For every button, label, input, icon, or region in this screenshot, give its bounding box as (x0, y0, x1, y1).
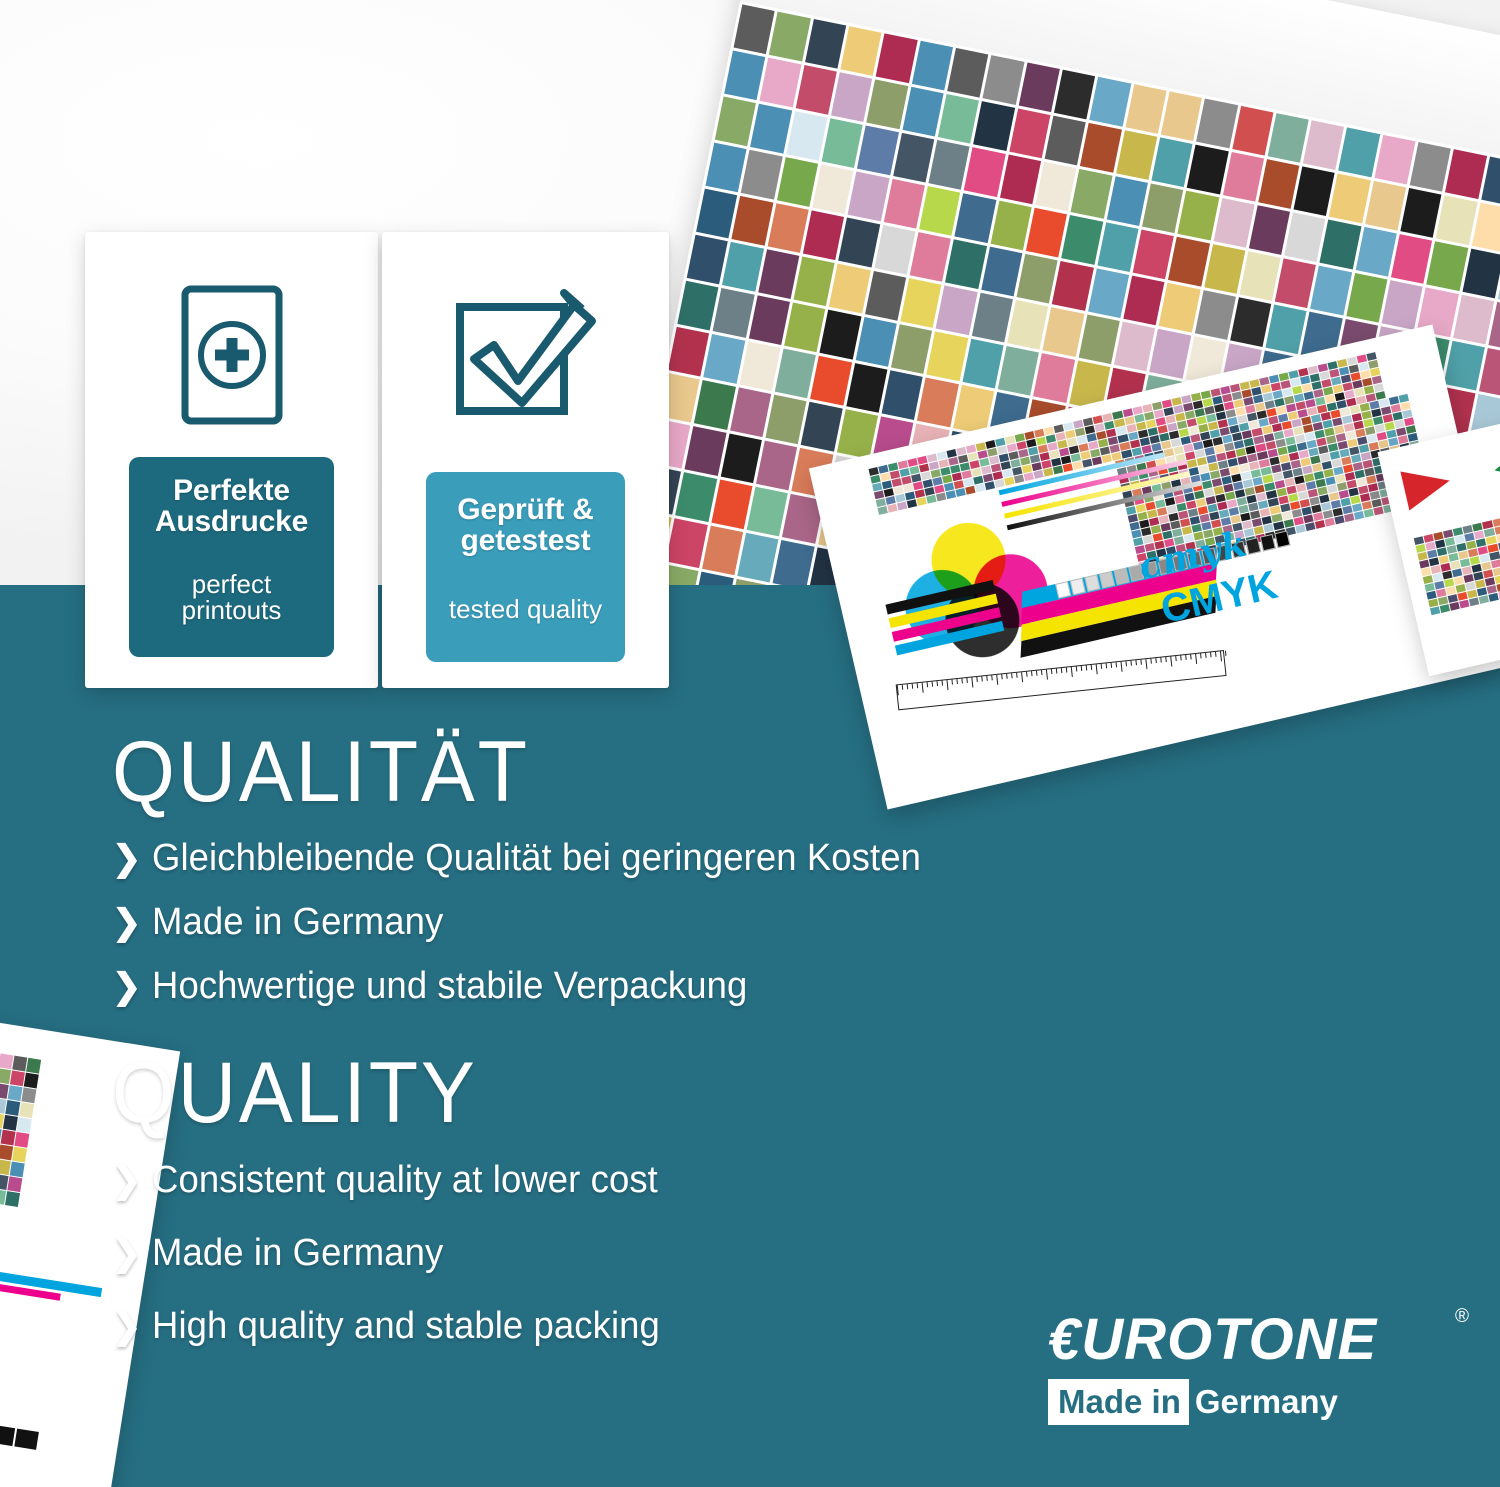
heading-english: QUALITY (112, 1051, 1146, 1135)
checkbox-pencil-icon (382, 280, 669, 430)
registered-trademark-icon: ® (1455, 1307, 1470, 1326)
document-plus-icon (85, 280, 378, 430)
copy-block: QUALITÄT ❯ Gleichbleibende Qualität bei … (112, 730, 1212, 1379)
list-item: ❯ Made in Germany (112, 902, 1212, 943)
list-item-label: Hochwertige und stabile Verpackung (152, 966, 747, 1007)
chevron-right-icon: ❯ (112, 1309, 152, 1344)
card-subtitle: tested quality (449, 596, 602, 622)
chevron-right-icon: ❯ (112, 841, 152, 876)
card-badge-light: Geprüft & getestest tested quality (426, 472, 625, 662)
bl-black-patches (0, 1421, 39, 1450)
list-item: ❯ Gleichbleibende Qualität bei geringere… (112, 838, 1212, 879)
list-item: ❯ Consistent quality at lower cost (112, 1160, 1212, 1201)
logo-made-in: Made in (1048, 1379, 1189, 1425)
english-group: QUALITY ❯ Consistent quality at lower co… (112, 1051, 1212, 1346)
red-wedge-mark (1400, 461, 1454, 510)
mosaic-strip-secondary (1414, 504, 1500, 615)
list-item-label: Made in Germany (152, 1233, 443, 1274)
chevron-right-icon: ❯ (112, 1236, 152, 1271)
list-item-label: Made in Germany (152, 902, 443, 943)
list-item-label: Gleichbleibende Qualität bei geringeren … (152, 838, 921, 879)
card-title: Geprüft & getestest (457, 494, 594, 556)
heading-german: QUALITÄT (112, 730, 1146, 814)
chevron-right-icon: ❯ (112, 905, 152, 940)
bullet-list-german: ❯ Gleichbleibende Qualität bei geringere… (112, 838, 1212, 1007)
chevron-right-icon: ❯ (112, 969, 152, 1004)
eurotone-logo[interactable]: €UROTONE ® Made in Germany (1048, 1311, 1448, 1425)
logo-wordmark: €UROTONE (1048, 1307, 1377, 1372)
list-item: ❯ Hochwertige und stabile Verpackung (112, 966, 1212, 1007)
logo-country: Germany (1189, 1379, 1338, 1425)
german-group: QUALITÄT ❯ Gleichbleibende Qualität bei … (112, 730, 1212, 1007)
list-item: ❯ High quality and stable packing (112, 1306, 1212, 1347)
chevron-right-icon: ❯ (112, 1163, 152, 1198)
list-item-label: Consistent quality at lower cost (152, 1160, 658, 1201)
card-title: Perfekte Ausdrucke (155, 475, 308, 537)
bl-color-grid (0, 1038, 41, 1207)
bullet-list-english: ❯ Consistent quality at lower cost ❯ Mad… (112, 1160, 1212, 1347)
list-item: ❯ Made in Germany (112, 1233, 1212, 1274)
list-item-label: High quality and stable packing (152, 1306, 660, 1347)
feature-card-perfect-printouts[interactable]: Perfekte Ausdrucke perfect printouts (85, 232, 378, 688)
logo-tagline: Made in Germany (1048, 1379, 1448, 1425)
measuring-ruler (896, 650, 1227, 710)
promo-banner: cmyk CMYK (0, 0, 1500, 1487)
card-subtitle: perfect printouts (182, 571, 282, 623)
card-badge-dark: Perfekte Ausdrucke perfect printouts (129, 457, 334, 657)
feature-card-tested-quality[interactable]: Geprüft & getestest tested quality (382, 232, 669, 688)
logo-wordmark-row: €UROTONE ® (1048, 1311, 1448, 1369)
green-wedge-mark (1490, 441, 1500, 489)
